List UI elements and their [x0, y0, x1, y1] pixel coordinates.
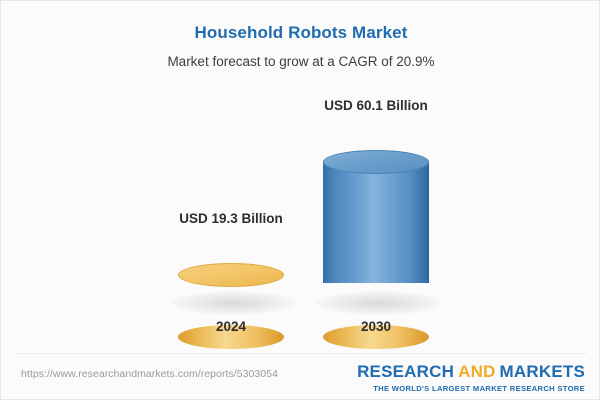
logo-word-research: RESEARCH: [357, 362, 454, 381]
logo-word-markets: MARKETS: [500, 362, 585, 381]
footer: https://www.researchandmarkets.com/repor…: [1, 354, 600, 400]
bar-segment-growth-2030: [323, 162, 429, 283]
logo-word-and: AND: [454, 362, 499, 381]
brand-logo[interactable]: RESEARCHANDMARKETS THE WORLD'S LARGEST M…: [357, 362, 585, 394]
bar-top-cap-2030: [323, 150, 429, 174]
source-url-link[interactable]: https://www.researchandmarkets.com/repor…: [21, 368, 278, 380]
axis-tick-2030: 2030: [296, 319, 456, 334]
bar-value-label-2030: USD 60.1 Billion: [266, 98, 486, 113]
chart-card: Household Robots Market Market forecast …: [0, 0, 600, 400]
logo-tagline: THE WORLD'S LARGEST MARKET RESEARCH STOR…: [357, 383, 585, 394]
plot-area: USD 19.3 Billion 2024 USD 60.1 Billion 2…: [1, 1, 600, 349]
bar-2024[interactable]: [178, 263, 284, 349]
bar-top-cap-2024: [178, 263, 284, 287]
bar-value-label-2024: USD 19.3 Billion: [121, 211, 341, 226]
logo-wordmark: RESEARCHANDMARKETS: [357, 362, 585, 381]
axis-tick-2024: 2024: [151, 319, 311, 334]
logo-word-and-text: AND: [458, 362, 495, 381]
